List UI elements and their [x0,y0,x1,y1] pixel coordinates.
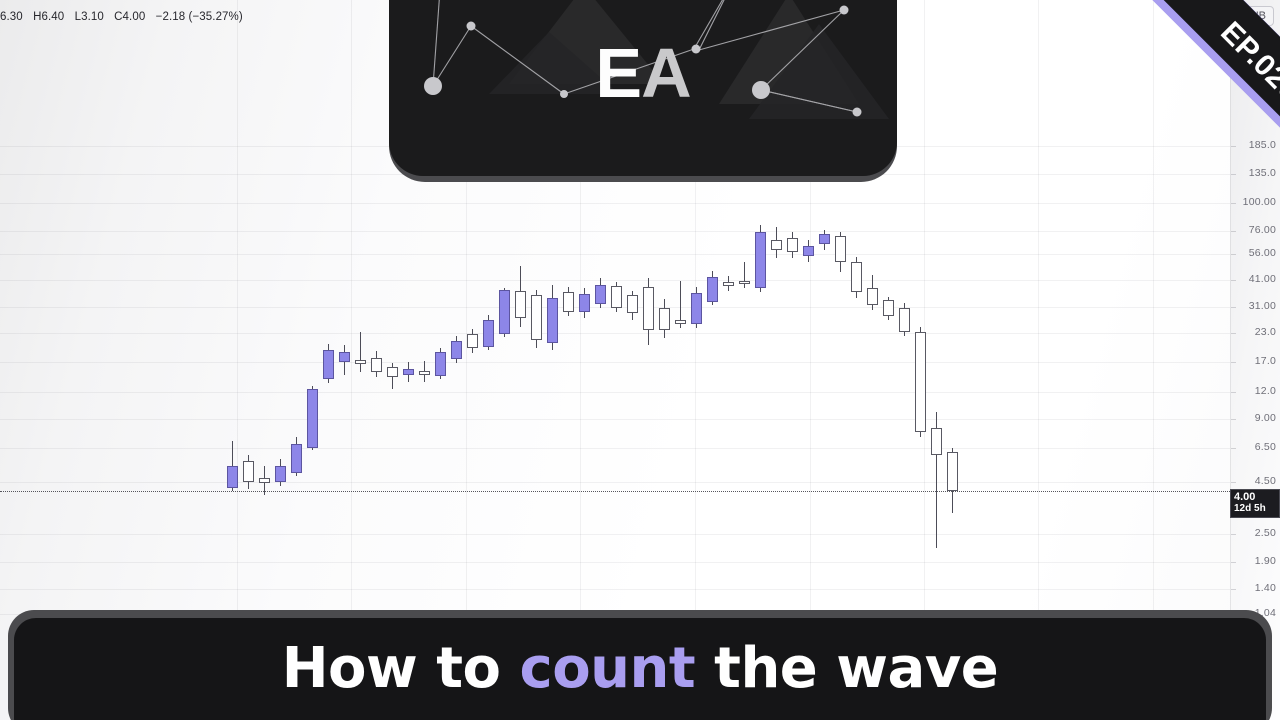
axis-tick-label: 76.00 [1249,224,1276,236]
axis-tick-label: 9.00 [1255,412,1276,424]
candle-body-down [563,292,574,312]
ohlc-close: C4.00 [114,11,145,23]
video-thumbnail-screen: 6.30 H6.40 L3.10 C4.00 −2.18 (−35.27%) 4… [0,0,1280,720]
candle-body-down [259,478,270,483]
candle-body-down [643,287,654,330]
currency-label: THB [1244,10,1266,22]
axis-tick-mark [1231,280,1236,281]
candle-body-up [291,444,302,473]
candlestick [627,291,638,320]
candle-body-up [547,298,558,343]
axis-tick-mark [1231,174,1236,175]
candlestick [659,299,670,338]
candle-body-up [339,352,350,362]
axis-tick-mark [1231,562,1236,563]
candlestick [803,240,814,262]
candlestick [563,287,574,316]
candlestick [307,386,318,450]
ohlc-open: 6.30 [0,11,23,23]
axis-tick-label: 12.0 [1255,385,1276,397]
candlestick [915,327,926,437]
axis-tick-mark [1231,203,1236,204]
candlestick [387,363,398,389]
candlestick [947,448,958,513]
candlestick [243,455,254,489]
axis-tick-label: 2.50 [1255,527,1276,539]
candlestick [723,276,734,291]
candle-body-down [387,367,398,377]
currency-chip[interactable]: THB [1236,6,1274,26]
candle-body-down [611,286,622,308]
candlestick [899,303,910,336]
candle-body-up [435,352,446,376]
candlestick [323,344,334,383]
candlestick [675,281,686,328]
axis-tick-label: 56.00 [1249,247,1276,259]
candle-body-down [771,240,782,250]
candlestick [275,459,286,486]
candle-body-down [659,308,670,330]
candlestick [819,230,830,250]
axis-tick-mark [1231,482,1236,483]
candle-body-down [723,282,734,286]
candle-body-down [915,332,926,432]
axis-tick-label: 41.00 [1249,273,1276,285]
candle-body-down [419,371,430,375]
last-price-badge: 4.00 12d 5h [1230,489,1280,518]
axis-tick-label: 23.0 [1255,326,1276,338]
axis-tick-mark [1231,419,1236,420]
candle-body-down [947,452,958,491]
axis-tick-label: 1.90 [1255,555,1276,567]
ohlc-change: −2.18 (−35.27%) [156,11,243,23]
candle-body-down [515,291,526,318]
candlestick [355,332,366,372]
axis-tick-mark [1231,392,1236,393]
last-price-value: 4.00 [1234,491,1276,503]
axis-tick-mark [1231,333,1236,334]
logo-card: EA [389,0,897,176]
candle-body-up [755,232,766,288]
candlestick [643,278,654,345]
candlestick [755,225,766,292]
candlestick [291,437,302,476]
axis-tick-label: 135.0 [1249,167,1276,179]
axis-tick-label: 4.50 [1255,475,1276,487]
candle-body-down [899,308,910,332]
candle-body-up [707,277,718,302]
ea-wordmark: EA [389,38,897,108]
axis-tick-mark [1231,362,1236,363]
axis-tick-label: 31.00 [1249,300,1276,312]
candle-body-up [307,389,318,448]
candlestick [467,329,478,353]
caption-text: How to count the wave [282,636,999,701]
candle-body-up [819,234,830,244]
candlestick [371,351,382,377]
axis-tick-label: 17.0 [1255,355,1276,367]
candlestick [435,348,446,379]
candlestick [579,288,590,318]
candlestick [531,290,542,348]
ohlc-low: L3.10 [75,11,104,23]
candlestick [611,282,622,312]
candlestick [787,232,798,258]
candle-body-up [499,290,510,334]
candle-body-down [931,428,942,455]
candlestick [691,287,702,328]
caption-highlight: count [520,636,696,701]
candlestick [595,278,606,308]
candlestick [771,227,782,258]
candle-body-down [627,295,638,313]
candlestick [403,362,414,382]
candlestick [931,412,942,548]
candle-body-up [595,285,606,304]
axis-tick-mark [1231,146,1236,147]
candlestick [339,345,350,375]
candlestick [499,288,510,337]
candlestick [851,257,862,298]
candle-body-up [483,320,494,347]
candlestick [739,262,750,288]
candle-wick [744,262,745,288]
candle-body-down [851,262,862,292]
candle-body-down [467,334,478,348]
caption-panel: How to count the wave [14,618,1266,720]
candlestick [227,441,238,491]
candlestick [707,271,718,305]
candlestick [451,336,462,363]
candlestick [867,275,878,310]
axis-tick-mark [1231,231,1236,232]
candle-body-down [355,360,366,364]
candle-body-up [451,341,462,359]
candlestick [547,285,558,350]
axis-tick-mark [1231,307,1236,308]
candle-body-up [275,466,286,482]
ohlc-legend: 6.30 H6.40 L3.10 C4.00 −2.18 (−35.27%) [0,11,250,23]
ohlc-high: H6.40 [33,11,64,23]
axis-tick-mark [1231,534,1236,535]
candle-body-up [403,369,414,375]
candle-body-up [227,466,238,488]
axis-tick-mark [1231,254,1236,255]
candle-body-down [531,295,542,340]
candle-body-up [803,246,814,256]
candle-body-down [243,461,254,482]
candle-body-down [787,238,798,252]
axis-tick-mark [1231,448,1236,449]
caption-suffix: the wave [695,636,998,701]
candle-body-up [691,293,702,324]
bar-countdown: 12d 5h [1234,503,1276,514]
candle-body-down [739,281,750,284]
candle-body-down [835,236,846,262]
axis-tick-label: 100.00 [1243,196,1276,208]
axis-tick-label: 6.50 [1255,441,1276,453]
candle-body-up [323,350,334,379]
candle-body-down [371,358,382,372]
ea-letter-a: A [641,34,691,112]
candlestick [515,266,526,327]
axis-tick-label: 185.0 [1249,139,1276,151]
last-price-line [0,491,1230,492]
candlestick [883,297,894,320]
candlestick [483,315,494,350]
candle-wick [360,332,361,372]
caption-prefix: How to [282,636,520,701]
candlestick [419,361,430,382]
candle-body-down [867,288,878,305]
candle-body-down [883,300,894,316]
axis-tick-label: 1.40 [1255,582,1276,594]
candle-body-up [579,294,590,312]
candlestick [835,232,846,272]
axis-tick-mark [1231,589,1236,590]
ea-letter-e: E [595,34,641,112]
candle-body-down [675,320,686,324]
